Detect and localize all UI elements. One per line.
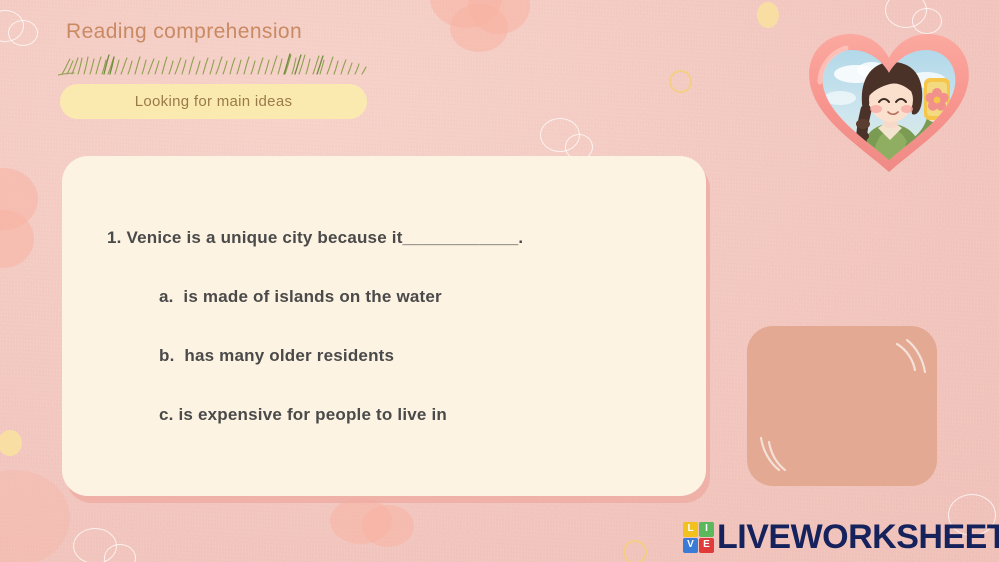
grass-divider-icon [58,50,378,76]
panel-corner-strokes-icon [747,326,937,486]
logo-tile-l: L [683,522,698,537]
flower-blob-icon [450,4,508,52]
answer-option-c[interactable]: c. is expensive for people to live in [159,405,447,425]
logo-tile-v: V [683,538,698,553]
flower-blob-icon [362,505,414,547]
subtitle-badge-label: Looking for main ideas [135,93,293,110]
page-title: Reading comprehension [66,20,302,44]
worksheet-page: Reading comprehension [0,0,999,562]
logo-tile-i: I [699,522,714,537]
subtitle-badge: Looking for main ideas [60,84,367,119]
question-text: 1. Venice is a unique city because it___… [107,228,523,248]
answer-option-a[interactable]: a. is made of islands on the water [159,287,442,307]
logo-wordmark: LIVEWORKSHEETS [717,520,999,554]
heart-photo-frame [806,28,972,176]
liveworksheets-logo[interactable]: L I V E LIVEWORKSHEETS [683,520,999,554]
logo-tile-e: E [699,538,714,553]
heart-illustration-icon [806,28,972,176]
decorative-panel [747,326,937,486]
answer-option-b[interactable]: b. has many older residents [159,346,394,366]
logo-tiles: L I V E [683,522,714,553]
content-card: 1. Venice is a unique city because it___… [62,156,706,496]
